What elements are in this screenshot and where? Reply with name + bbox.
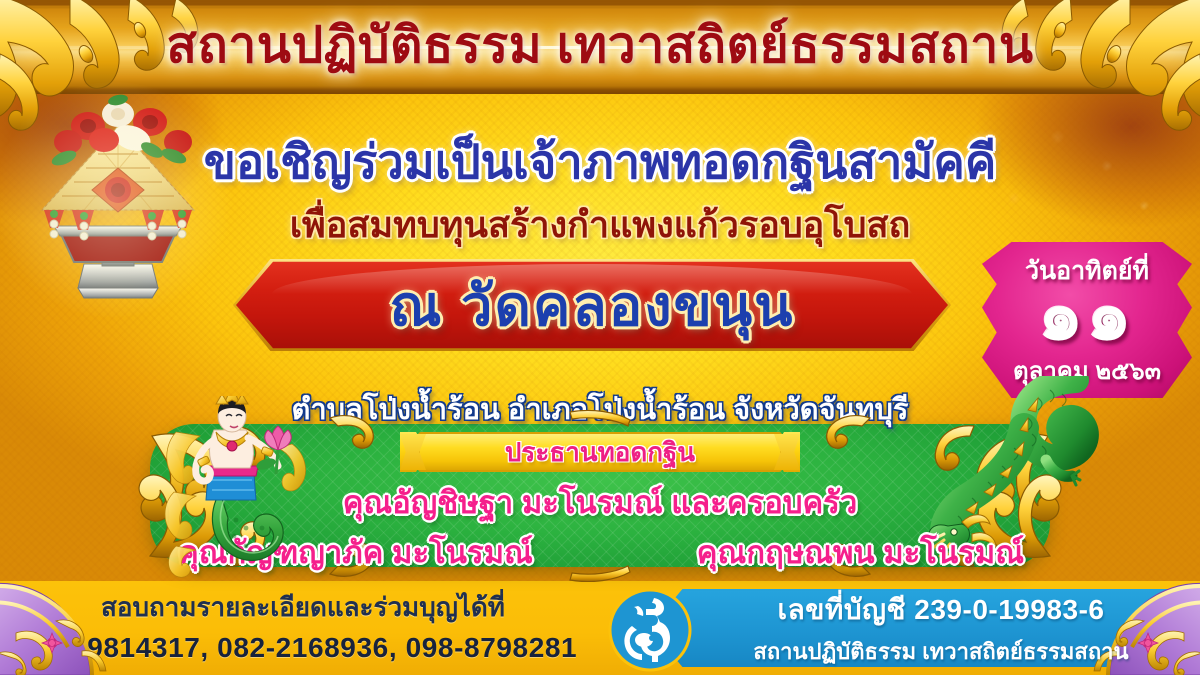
kathina-invitation-banner: สถานปฏิบัติธรรม เทวาสถิตย์ธรรมสถาน xyxy=(0,0,1200,675)
invitation-headline: ขอเชิญร่วมเป็นเจ้าภาพทอดกฐินสามัคคี xyxy=(0,124,1200,199)
bangkok-bank-garuda-logo-icon xyxy=(608,588,692,672)
contact-heading: สอบถามรายละเอียดและร่วมบุญได้ที่ xyxy=(18,587,588,628)
kinnari-figure-icon xyxy=(158,396,328,578)
bank-account-name: สถานปฏิบัติธรรม เทวาสถิตย์ธรรมสถาน xyxy=(700,634,1182,669)
event-date-badge: วันอาทิตย์ที่ ๑๑ ตุลาคม ๒๕๖๓ xyxy=(982,242,1192,398)
temple-name-text: ณ วัดคลองขนุน xyxy=(236,258,948,352)
header-bar: สถานปฏิบัติธรรม เทวาสถิตย์ธรรมสถาน xyxy=(0,0,1200,94)
bank-text-block: เลขที่บัญชี 239-0-19983-6 สถานปฏิบัติธรร… xyxy=(700,588,1182,669)
host-name-secondary-right: คุณกฤษณพน มะโนรมณ์ xyxy=(697,527,1024,577)
organization-title: สถานปฏิบัติธรรม เทวาสถิตย์ธรรมสถาน xyxy=(0,6,1200,85)
contact-block: สอบถามรายละเอียดและร่วมบุญได้ที่ 081-981… xyxy=(18,587,588,664)
bank-account-number: เลขที่บัญชี 239-0-19983-6 xyxy=(700,588,1182,632)
contact-phone-numbers[interactable]: 081-9814317, 082-2168936, 098-8798281 xyxy=(18,632,588,664)
temple-name-ribbon: ณ วัดคลองขนุน xyxy=(236,258,948,352)
date-day-number: ๑๑ xyxy=(982,280,1192,350)
president-section-ribbon: ประธานทอดกฐิน xyxy=(400,432,800,472)
president-section-label: ประธานทอดกฐิน xyxy=(400,432,800,472)
